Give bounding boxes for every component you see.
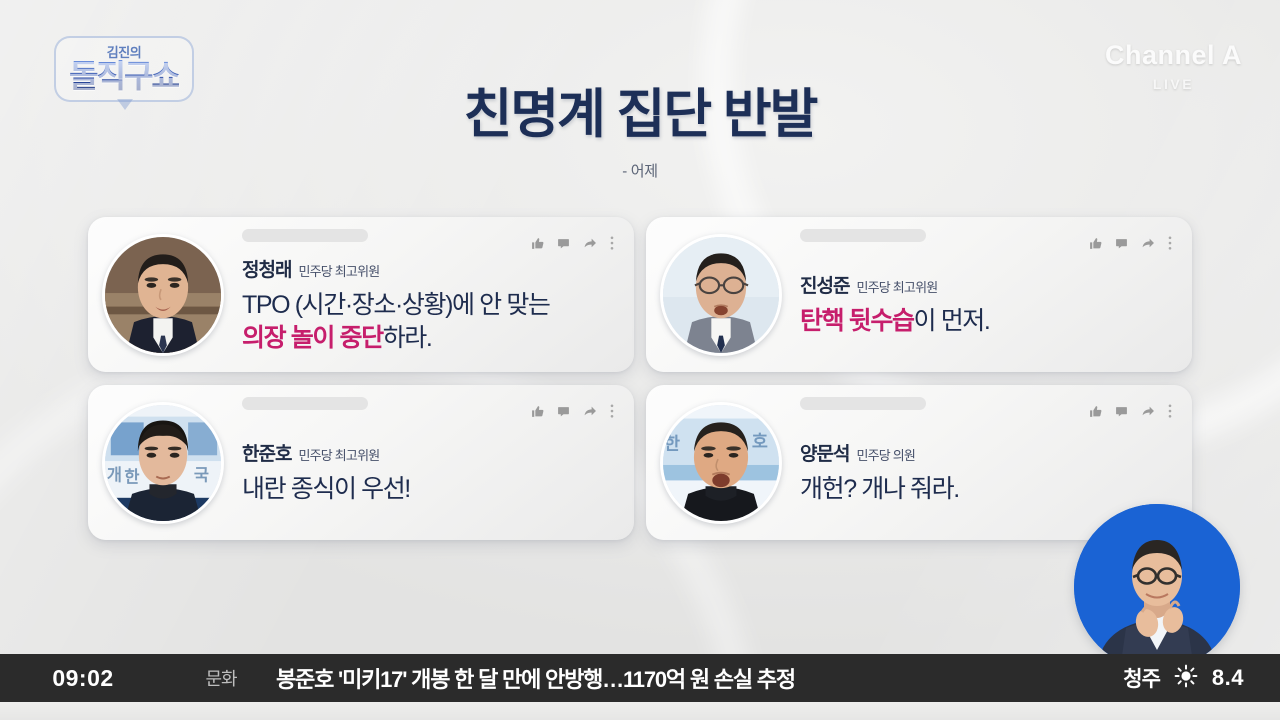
thumbs-up-icon[interactable] xyxy=(531,237,544,255)
card-topbar xyxy=(242,397,618,410)
speaker-line: 한준호민주당 최고위원 xyxy=(242,439,614,466)
quote-text: 내란 종식이 우선! xyxy=(242,473,614,506)
speaker-title: 민주당 최고위원 xyxy=(298,261,379,280)
sun-icon xyxy=(1174,664,1198,693)
comment-icon[interactable] xyxy=(557,405,570,423)
ticker-category: 문화 xyxy=(166,665,276,691)
ticker-weather: 청주 8.4 xyxy=(1123,663,1280,693)
weather-city: 청주 xyxy=(1123,663,1160,693)
avatar-han-jun-ho: 개한국 xyxy=(102,402,224,524)
quote-card-body: 정청래민주당 최고위원TPO (시간·장소·상황)에 안 맞는의장 놀이 중단하… xyxy=(224,217,618,372)
avatar-yang-moon-seok: 한호 xyxy=(660,402,782,524)
quote-text: 탄핵 뒷수습이 먼저. xyxy=(800,305,1172,338)
quote-text: TPO (시간·장소·상황)에 안 맞는의장 놀이 중단하라. xyxy=(242,289,614,355)
speaker-title: 민주당 의원 xyxy=(856,445,915,464)
quote-card: 한호 양문석민주당 xyxy=(646,385,1192,540)
placeholder-pill xyxy=(800,397,926,410)
thumbs-up-icon[interactable] xyxy=(1089,237,1102,255)
news-ticker: 09:02 문화 봉준호 '미키17' 개봉 한 달 만에 안방행…1170억 … xyxy=(0,654,1280,702)
svg-text:한: 한 xyxy=(124,467,139,486)
share-icon[interactable] xyxy=(1141,237,1155,255)
card-topbar xyxy=(800,229,1176,242)
share-icon[interactable] xyxy=(583,237,597,255)
svg-text:한: 한 xyxy=(664,433,680,453)
quote-card-body: 한준호민주당 최고위원내란 종식이 우선! xyxy=(224,385,618,540)
placeholder-pill xyxy=(800,229,926,242)
more-vertical-icon[interactable] xyxy=(1168,404,1172,423)
card-actions xyxy=(531,404,614,423)
quote-card: 진성준민주당 최고위원탄핵 뒷수습이 먼저. xyxy=(646,217,1192,372)
more-vertical-icon[interactable] xyxy=(610,236,614,255)
speaker-line: 진성준민주당 최고위원 xyxy=(800,271,1172,298)
quote-card: 정청래민주당 최고위원TPO (시간·장소·상황)에 안 맞는의장 놀이 중단하… xyxy=(88,217,634,372)
page-title: 친명계 집단 반발 xyxy=(0,72,1280,148)
svg-text:개: 개 xyxy=(107,465,122,484)
headline-block: 친명계 집단 반발 - 어제 xyxy=(0,72,1280,181)
headline-subtitle: - 어제 xyxy=(0,160,1280,181)
placeholder-pill xyxy=(242,397,368,410)
card-topbar xyxy=(800,397,1176,410)
avatar-jung-chung-rae xyxy=(102,234,224,356)
speaker-name: 한준호 xyxy=(242,439,291,466)
channel-name: Channel A xyxy=(1105,42,1242,69)
thumbs-up-icon[interactable] xyxy=(531,405,544,423)
svg-text:호: 호 xyxy=(752,431,768,451)
quote-text: 개헌? 개나 줘라. xyxy=(800,473,1172,506)
weather-temperature: 8.4 xyxy=(1212,665,1244,691)
ticker-time: 09:02 xyxy=(0,665,166,692)
speaker-title: 민주당 최고위원 xyxy=(856,277,937,296)
speaker-line: 정청래민주당 최고위원 xyxy=(242,255,614,282)
share-icon[interactable] xyxy=(583,405,597,423)
thumbs-up-icon[interactable] xyxy=(1089,405,1102,423)
quote-card-body: 진성준민주당 최고위원탄핵 뒷수습이 먼저. xyxy=(782,217,1176,372)
sign-language-interpreter xyxy=(1074,504,1240,670)
comment-icon[interactable] xyxy=(1115,405,1128,423)
speaker-name: 양문석 xyxy=(800,439,849,466)
ticker-bottom-strip xyxy=(0,702,1280,720)
more-vertical-icon[interactable] xyxy=(610,404,614,423)
speaker-line: 양문석민주당 의원 xyxy=(800,439,1172,466)
comment-icon[interactable] xyxy=(1115,237,1128,255)
more-vertical-icon[interactable] xyxy=(1168,236,1172,255)
card-topbar xyxy=(242,229,618,242)
speaker-name: 진성준 xyxy=(800,271,849,298)
svg-text:국: 국 xyxy=(194,466,209,484)
placeholder-pill xyxy=(242,229,368,242)
speaker-name: 정청래 xyxy=(242,255,291,282)
card-actions xyxy=(1089,236,1172,255)
avatar-jin-sung-joon xyxy=(660,234,782,356)
card-actions xyxy=(1089,404,1172,423)
program-logo-main: 돌직구쇼 xyxy=(69,60,179,92)
comment-icon[interactable] xyxy=(557,237,570,255)
share-icon[interactable] xyxy=(1141,405,1155,423)
quote-card: 개한국 한준호민주 xyxy=(88,385,634,540)
ticker-headline: 봉준호 '미키17' 개봉 한 달 만에 안방행…1170억 원 손실 추정 xyxy=(276,662,1123,694)
speaker-title: 민주당 최고위원 xyxy=(298,445,379,464)
quote-card-grid: 정청래민주당 최고위원TPO (시간·장소·상황)에 안 맞는의장 놀이 중단하… xyxy=(88,217,1192,540)
card-actions xyxy=(531,236,614,255)
